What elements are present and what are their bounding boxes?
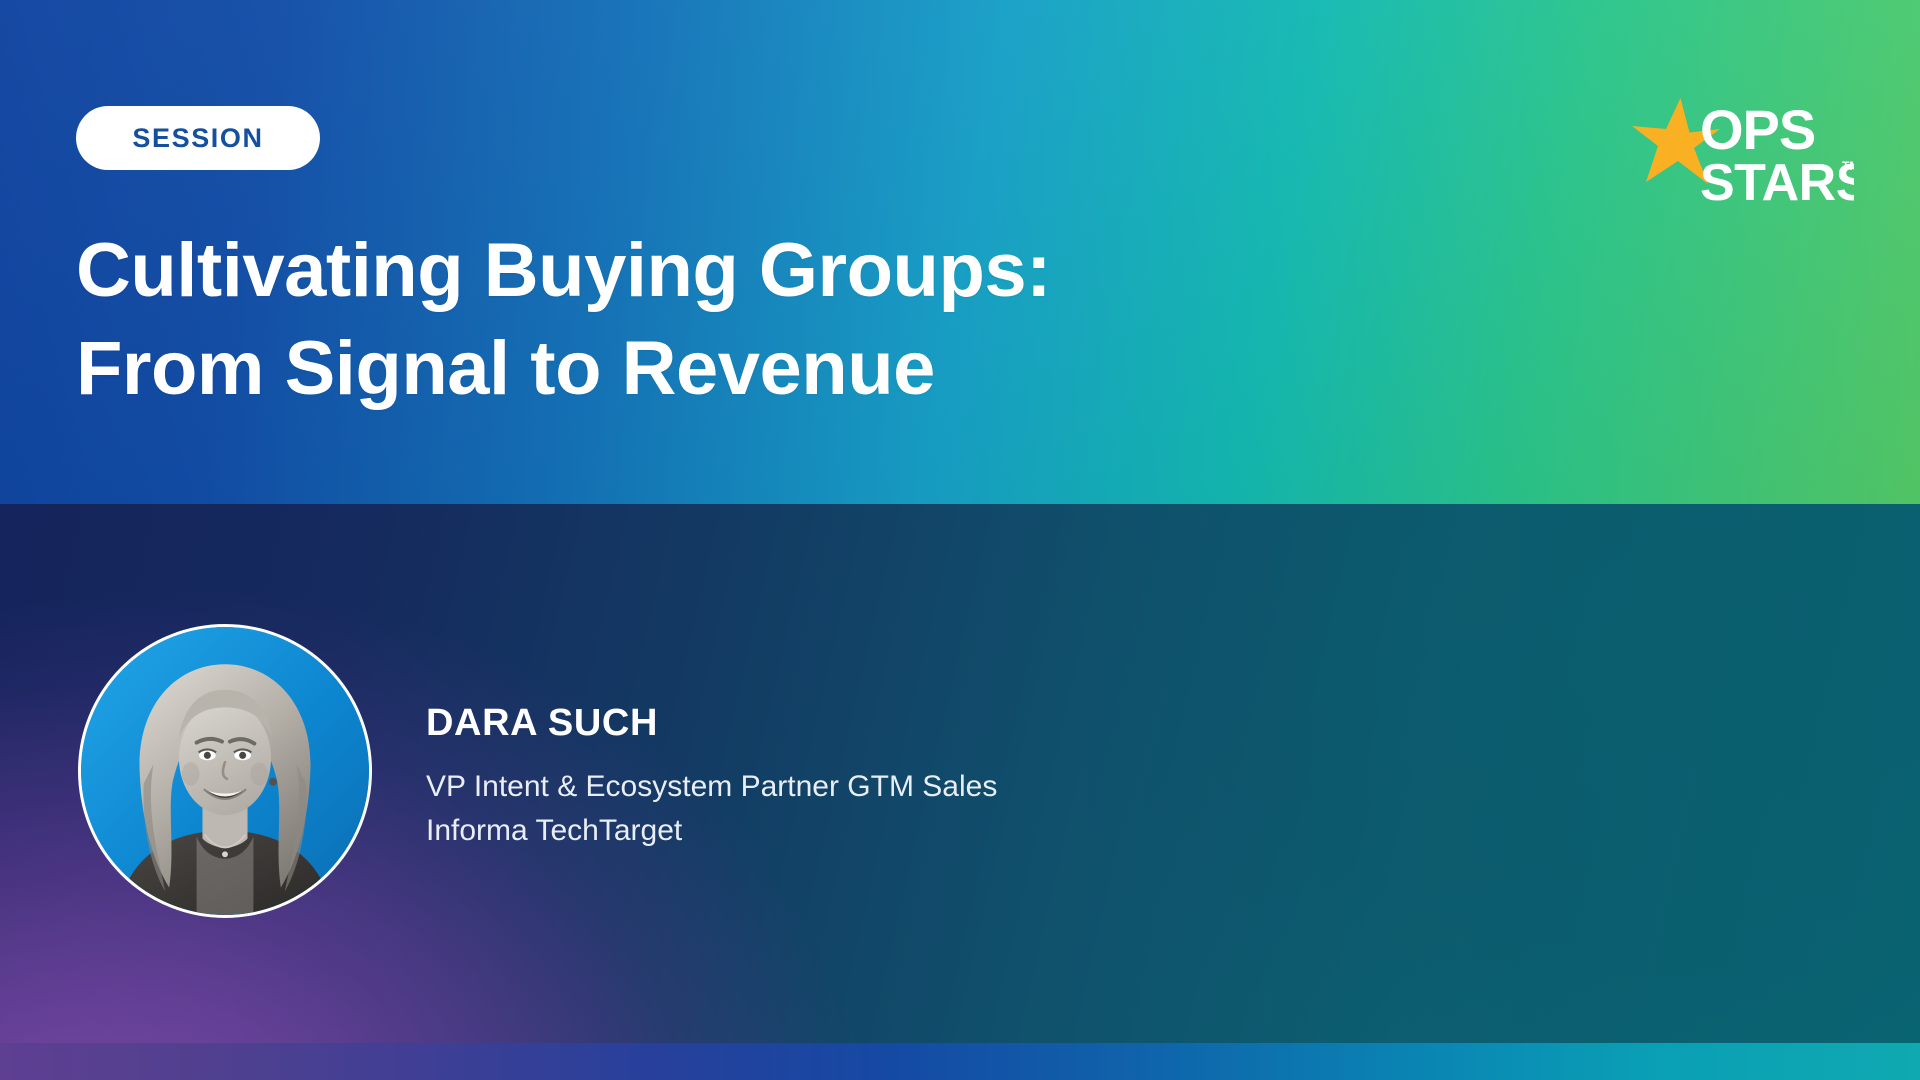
logo-word-ops: OPS [1700, 98, 1815, 161]
speaker-role: VP Intent & Ecosystem Partner GTM Sales [426, 765, 997, 809]
title-line-1: Cultivating Buying Groups: [76, 222, 1426, 320]
session-badge-label: SESSION [132, 123, 263, 154]
logo-word-stars: STARS [1700, 154, 1854, 206]
speaker-name: DARA SUCH [426, 700, 997, 746]
trademark-symbol: TM [1842, 159, 1854, 173]
session-badge: SESSION [76, 106, 320, 170]
title-line-2: From Signal to Revenue [76, 320, 1426, 418]
svg-text:STARS: STARS [1700, 154, 1854, 206]
opsstars-logo: OPS STARS TM [1628, 96, 1854, 206]
svg-text:OPS: OPS [1700, 98, 1815, 161]
speaker-info: DARA SUCH VP Intent & Ecosystem Partner … [426, 700, 997, 853]
bottom-accent-strip [0, 1043, 1920, 1080]
session-title-slide: SESSION Cultivating Buying Groups: From … [0, 0, 1920, 1080]
avatar-photo [81, 627, 369, 915]
speaker-company: Informa TechTarget [426, 809, 997, 853]
session-title: Cultivating Buying Groups: From Signal t… [76, 222, 1426, 418]
speaker-avatar [78, 624, 372, 918]
